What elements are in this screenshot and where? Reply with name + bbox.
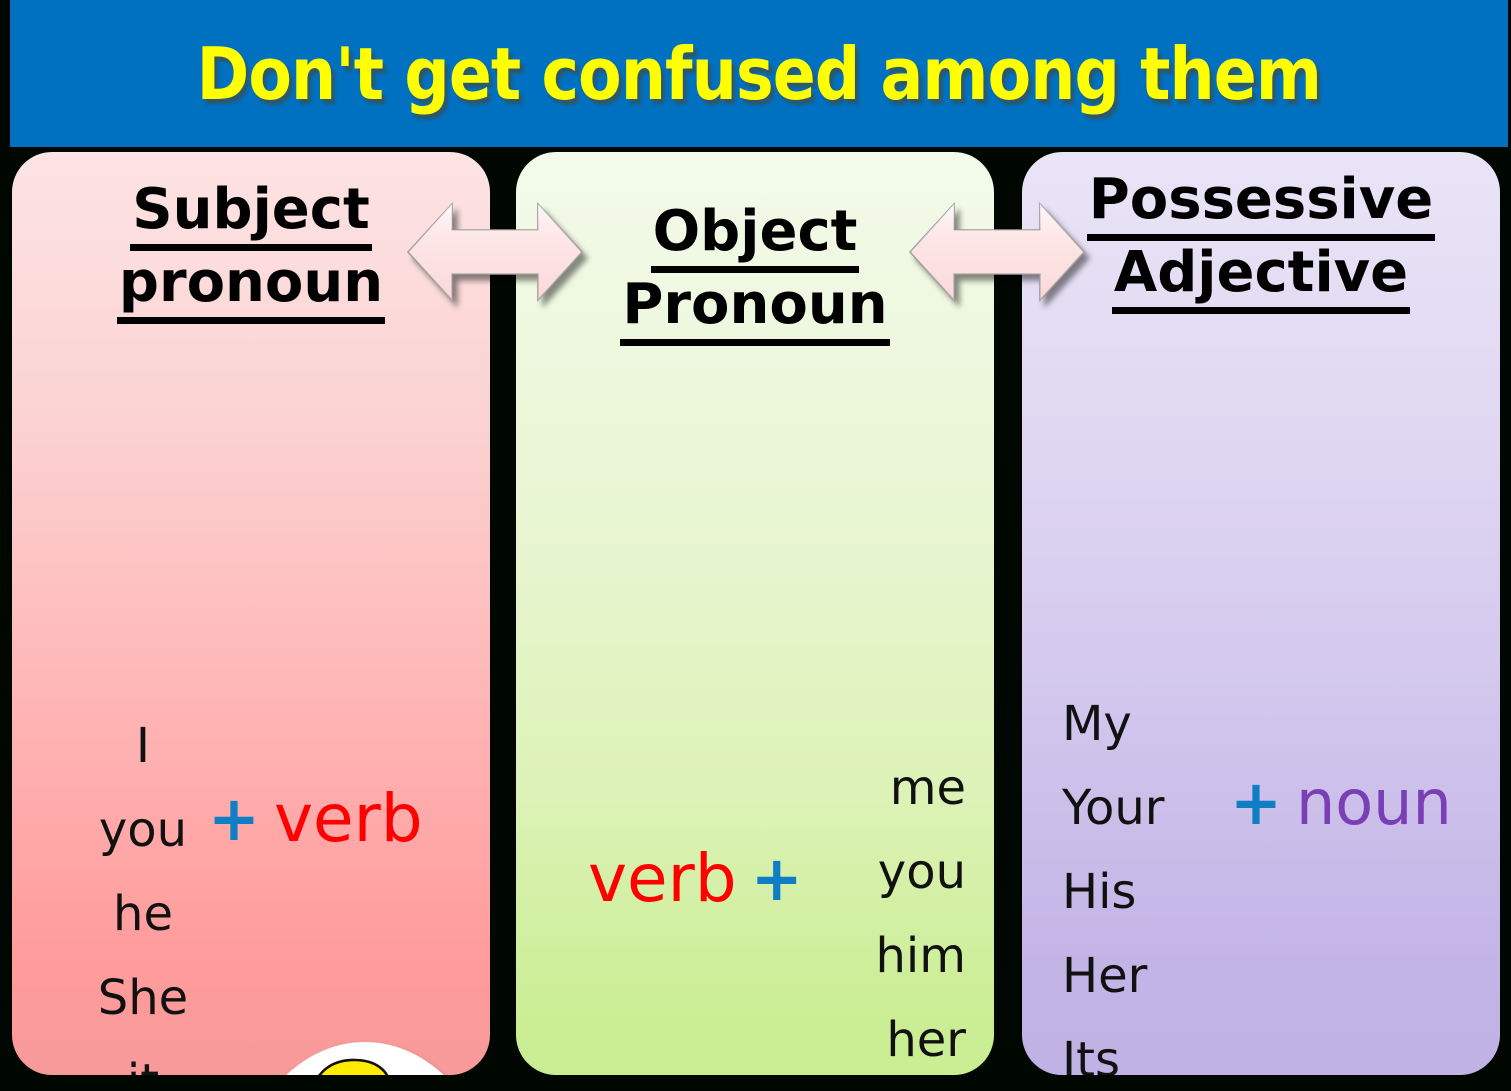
stick-figure-girl-image: AM A GIR: [234, 1042, 490, 1075]
list-item: I: [48, 704, 238, 788]
list-item: My: [1062, 682, 1262, 766]
formula-possessive: + noun: [1230, 766, 1452, 839]
formula-subject: + verb: [208, 780, 423, 857]
formula-object: verb +: [588, 840, 803, 917]
heading-line-2: pronoun: [117, 251, 385, 324]
list-item: me: [786, 746, 966, 830]
girl-drawing: [234, 1042, 490, 1075]
list-item: he: [48, 872, 238, 956]
list-item: She: [48, 956, 238, 1040]
plus-sign: +: [208, 782, 260, 855]
list-item: Her: [1062, 934, 1262, 1018]
verb-term: verb: [274, 780, 423, 857]
heading-line-1: Subject: [130, 178, 371, 251]
plus-sign: +: [1230, 766, 1282, 839]
list-item: His: [1062, 850, 1262, 934]
list-item: her: [786, 998, 966, 1075]
verb-term: verb: [588, 840, 737, 917]
plus-sign: +: [751, 842, 803, 915]
card-heading-possessive: Possessive Adjective: [1022, 152, 1500, 314]
heading-line-2: Pronoun: [620, 273, 889, 346]
title-banner: Don't get confused among them: [10, 0, 1508, 147]
heading-line-1: Object: [651, 200, 860, 273]
heading-line-1: Possessive: [1087, 168, 1436, 241]
double-arrow-subject-object-icon: [406, 196, 584, 308]
heading-line-2: Adjective: [1112, 241, 1410, 314]
possessive-adjective-list: My Your His Her Its Our Your Their: [1062, 682, 1262, 1075]
list-item: Its: [1062, 1018, 1262, 1075]
list-item: it: [48, 1040, 238, 1075]
page-title: Don't get confused among them: [197, 32, 1321, 116]
list-item: him: [786, 914, 966, 998]
noun-term: noun: [1296, 766, 1452, 839]
card-possessive-adjective: Possessive Adjective My Your His Her Its…: [1022, 152, 1500, 1075]
double-arrow-object-possessive-icon: [908, 196, 1086, 308]
subject-pronoun-list: I you he She it We You They: [48, 704, 238, 1075]
infographic-page: Don't get confused among them Subject pr…: [0, 0, 1511, 1091]
object-pronoun-list: me you him her it us you them: [786, 746, 966, 1075]
list-item: you: [786, 830, 966, 914]
